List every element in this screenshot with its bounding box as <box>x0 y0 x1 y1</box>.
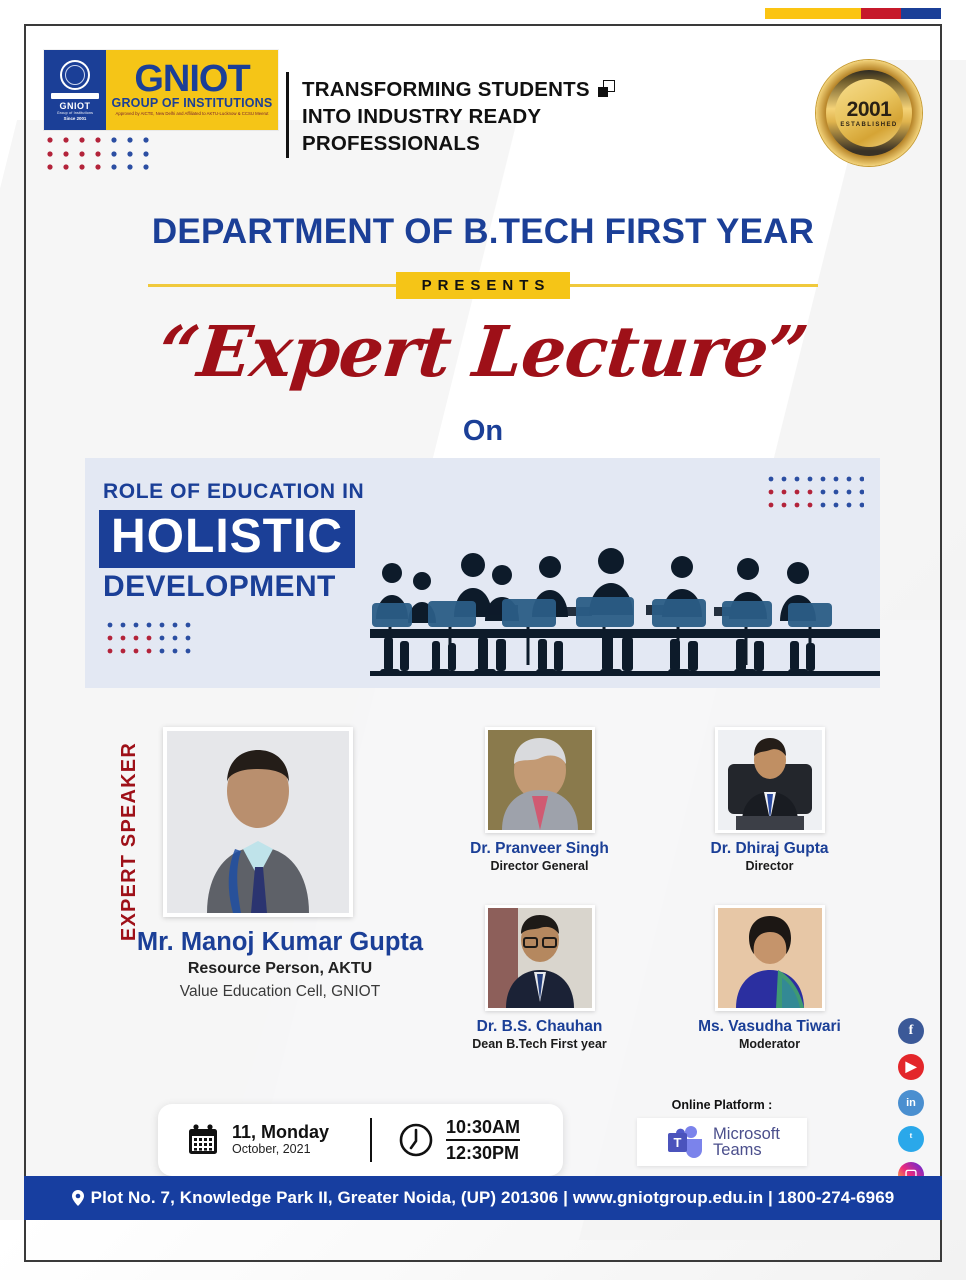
teams-wordmark: Microsoft Teams <box>713 1126 780 1159</box>
teams-line-1: Microsoft <box>713 1125 780 1143</box>
twitter-icon[interactable]: ᵗ <box>898 1126 924 1152</box>
facebook-icon[interactable]: f <box>898 1018 924 1044</box>
schedule-bar: 11, Monday October, 2021 10:30AM 12:30PM <box>158 1104 563 1176</box>
footer-bar: Plot No. 7, Knowledge Park II, Greater N… <box>24 1176 942 1220</box>
time-end: 12:30PM <box>446 1141 520 1164</box>
topic-line-1: ROLE OF EDUCATION IN <box>103 480 364 504</box>
dot-grid-header <box>46 136 164 170</box>
date-sub: October, 2021 <box>232 1142 329 1157</box>
dignitary-card: Ms. Vasudha Tiwari Moderator <box>692 905 847 1051</box>
page-title: DEPARTMENT OF B.TECH FIRST YEAR <box>0 212 966 252</box>
location-pin-icon <box>72 1190 84 1206</box>
dignitary-name: Ms. Vasudha Tiwari <box>692 1018 847 1036</box>
calendar-icon <box>186 1123 220 1157</box>
dot-grid-banner-top-right <box>768 476 864 510</box>
gniot-approval-text: Approved by AICTE, New Delhi and Affilia… <box>115 111 268 116</box>
dignitary-card: Dr. B.S. Chauhan Dean B.Tech First year <box>462 905 617 1051</box>
crest-since: Since 2001 <box>64 116 87 121</box>
dot-grid-banner-bottom-left <box>107 622 193 656</box>
institution-crest-icon <box>60 60 90 90</box>
date-text: 11, Monday October, 2021 <box>232 1123 329 1158</box>
dignitary-photo <box>485 727 595 833</box>
teams-icon: T <box>664 1125 704 1159</box>
dignitary-role: Director General <box>462 859 617 873</box>
topic-line-3: DEVELOPMENT <box>103 570 336 604</box>
dignitary-name: Dr. Pranveer Singh <box>462 840 617 858</box>
dignitary-photo <box>485 905 595 1011</box>
seal-year: 2001 <box>847 99 892 120</box>
crest-sub: Group of Institutions <box>57 111 93 115</box>
footer-address: Plot No. 7, Knowledge Park II, Greater N… <box>91 1188 895 1208</box>
time-text: 10:30AM 12:30PM <box>446 1117 520 1164</box>
established-seal: 2001 ESTABLISHED <box>816 60 922 166</box>
dignitary-role: Director <box>692 859 847 873</box>
speaker-organisation: Value Education Cell, GNIOT <box>60 983 500 1001</box>
tagline: TRANSFORMING STUDENTS INTO INDUSTRY READ… <box>302 76 590 157</box>
tagline-line-2: INTO INDUSTRY READY <box>302 103 590 130</box>
gniot-logo: GNIOT Group of Institutions Since 2001 G… <box>44 50 278 130</box>
dignitary-role: Moderator <box>692 1037 847 1051</box>
accent-segment-yellow <box>765 8 861 19</box>
crest-ribbon <box>51 93 99 99</box>
time-cell: 10:30AM 12:30PM <box>372 1117 520 1164</box>
topic-banner: ROLE OF EDUCATION IN HOLISTIC DEVELOPMEN… <box>85 458 880 688</box>
seal-caption: ESTABLISHED <box>840 122 897 128</box>
crest-name: GNIOT <box>60 101 91 111</box>
youtube-icon[interactable]: ▶ <box>898 1054 924 1080</box>
accent-segment-red <box>861 8 901 19</box>
clock-icon <box>398 1122 434 1158</box>
gniot-crest-block: GNIOT Group of Institutions Since 2001 <box>44 50 106 130</box>
speaker-role: Resource Person, AKTU <box>60 960 500 978</box>
svg-text:T: T <box>674 1135 682 1150</box>
dignitary-card: Dr. Dhiraj Gupta Director <box>692 727 847 873</box>
dignitary-name: Dr. Dhiraj Gupta <box>692 840 847 858</box>
online-platform: Online Platform : T Microsoft Teams <box>637 1098 807 1166</box>
on-connector: On <box>0 415 966 448</box>
poster-root: GNIOT Group of Institutions Since 2001 G… <box>0 0 966 1280</box>
top-accent-bar <box>765 8 940 19</box>
platform-label: Online Platform : <box>637 1098 807 1112</box>
tagline-divider <box>286 72 289 158</box>
microsoft-teams-logo: T Microsoft Teams <box>637 1118 807 1166</box>
dignitary-name: Dr. B.S. Chauhan <box>462 1018 617 1036</box>
gniot-wordmark-block: GNIOT GROUP OF INSTITUTIONS Approved by … <box>106 50 278 130</box>
dignitary-card: Dr. Pranveer Singh Director General <box>462 727 617 873</box>
speaker-photo <box>163 727 353 917</box>
linkedin-icon[interactable]: in <box>898 1090 924 1116</box>
dignitary-photo <box>715 905 825 1011</box>
date-cell: 11, Monday October, 2021 <box>158 1123 370 1158</box>
poster-header: GNIOT Group of Institutions Since 2001 G… <box>0 36 966 166</box>
presents-badge: PRESENTS <box>396 272 571 299</box>
expert-speaker-label: EXPERT SPEAKER <box>118 742 141 941</box>
event-title: “Expert Lecture” <box>0 310 966 393</box>
tagline-line-1: TRANSFORMING STUDENTS <box>302 76 590 103</box>
teams-line-2: Teams <box>713 1141 762 1159</box>
presents-row: PRESENTS <box>0 272 966 298</box>
accent-segment-blue <box>901 8 941 19</box>
squares-decor-icon <box>598 80 615 97</box>
dignitary-photo <box>715 727 825 833</box>
social-links: f ▶ in ᵗ ▢ <box>898 1018 924 1188</box>
gniot-wordmark: GNIOT <box>134 62 249 97</box>
time-start: 10:30AM <box>446 1117 520 1141</box>
boardroom-silhouette-illustration <box>370 545 880 680</box>
tagline-line-3: PROFESSIONALS <box>302 130 590 157</box>
seal-inner: 2001 ESTABLISHED <box>835 79 903 147</box>
date-main: 11, Monday <box>232 1123 329 1143</box>
topic-line-2: HOLISTIC <box>99 510 355 568</box>
gniot-wordmark-sub: GROUP OF INSTITUTIONS <box>112 97 273 110</box>
dignitary-role: Dean B.Tech First year <box>462 1037 617 1051</box>
